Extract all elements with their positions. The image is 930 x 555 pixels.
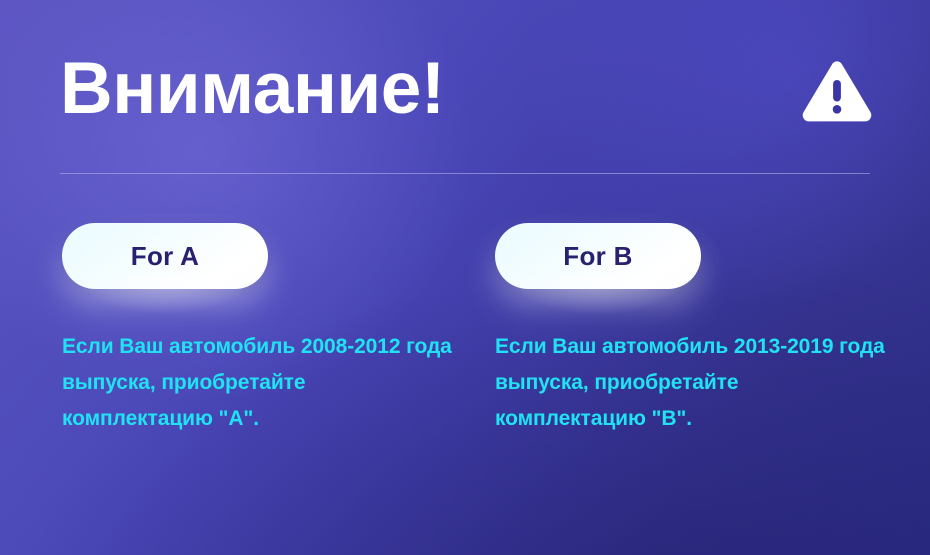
option-a-description: Если Ваш автомобиль 2008-2012 года выпус… [62, 289, 452, 437]
banner-content: Внимание! For A Если Ваш автомобиль 2008… [0, 0, 930, 555]
for-b-button[interactable]: For B [495, 223, 701, 289]
option-column-b: For B Если Ваш автомобиль 2013-2019 года… [495, 223, 895, 437]
option-column-a: For A Если Ваш автомобиль 2008-2012 года… [62, 223, 462, 437]
header-divider [60, 173, 870, 174]
for-a-button[interactable]: For A [62, 223, 268, 289]
option-b-description: Если Ваш автомобиль 2013-2019 года выпус… [495, 289, 885, 437]
attention-banner: Внимание! For A Если Ваш автомобиль 2008… [0, 0, 930, 555]
warning-triangle-icon [801, 60, 873, 124]
page-title: Внимание! [60, 52, 445, 125]
